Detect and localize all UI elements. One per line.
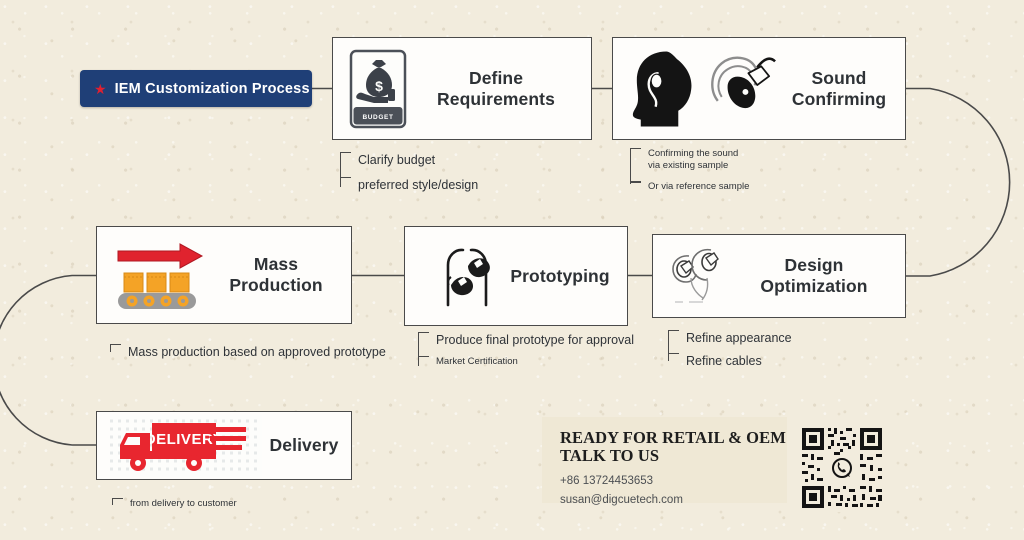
annotation-mass-production: Mass production based on approved protot… — [110, 344, 386, 360]
svg-text:$: $ — [375, 78, 383, 94]
star-icon: ★ — [94, 82, 107, 96]
contact-headline-2: TALK TO US — [560, 447, 787, 465]
head-earphone-ear-icon — [613, 47, 781, 131]
branch-dash-icon — [418, 332, 429, 333]
node-sound-confirming[interactable]: Sound Confirming — [612, 37, 906, 140]
delivery-truck-icon: DELIVERY — [97, 415, 265, 477]
node-title-define-requirements: Define Requirements — [409, 68, 591, 110]
annotation-prototyping: Produce final prototype for approval Mar… — [418, 332, 634, 368]
branch-dash-icon — [668, 330, 679, 331]
process-title-label: IEM Customization Process — [115, 81, 310, 97]
branch-dash-icon — [668, 353, 679, 354]
branch-dash-icon — [630, 148, 641, 149]
branch-dash-icon — [630, 181, 641, 182]
node-define-requirements[interactable]: BUDGET $ Define Requirements — [332, 37, 592, 140]
contact-headline-1: READY FOR RETAIL & OEM — [560, 429, 787, 447]
node-design-optimization[interactable]: Design Optimization — [652, 234, 906, 318]
iem-pair-icon — [405, 239, 501, 313]
branch-dash-icon — [418, 356, 429, 357]
contact-phone[interactable]: +86 13724453653 — [560, 473, 787, 490]
annotation-delivery: from delivery to customer — [112, 498, 237, 510]
contact-email[interactable]: susan@digcuetech.com — [560, 492, 787, 509]
infographic-canvas: ★ IEM Customization Process BUDGET $ Def… — [0, 0, 1024, 540]
whatsapp-qr-code[interactable] — [798, 424, 886, 512]
node-title-prototyping: Prototyping — [501, 266, 627, 287]
node-title-sound-confirming: Sound Confirming — [781, 68, 905, 110]
process-title-badge: ★ IEM Customization Process — [80, 70, 312, 107]
node-delivery[interactable]: DELIVERY Delivery — [96, 411, 352, 480]
node-mass-production[interactable]: Mass Production — [96, 226, 352, 324]
node-title-delivery: Delivery — [265, 435, 351, 456]
node-title-design-optimization: Design Optimization — [731, 255, 905, 297]
branch-dash-icon — [112, 498, 123, 499]
node-prototyping[interactable]: Prototyping — [404, 226, 628, 326]
branch-dash-icon — [340, 152, 351, 153]
annotation-design-optimization: Refine appearance Refine cables — [668, 330, 792, 369]
contact-panel: READY FOR RETAIL & OEM TALK TO US +86 13… — [542, 417, 787, 503]
annotation-sound-confirming: Confirming the sound via existing sample… — [630, 148, 750, 193]
branch-dash-icon — [340, 177, 351, 178]
money-bag-budget-icon: BUDGET $ — [333, 49, 409, 129]
branch-dash-icon — [110, 344, 121, 345]
annotation-define-requirements: Clarify budget preferred style/design — [340, 152, 478, 193]
conveyor-belt-icon — [97, 239, 209, 311]
svg-text:BUDGET: BUDGET — [362, 114, 393, 121]
node-title-mass-production: Mass Production — [209, 254, 351, 296]
iem-outline-icon — [653, 244, 731, 308]
